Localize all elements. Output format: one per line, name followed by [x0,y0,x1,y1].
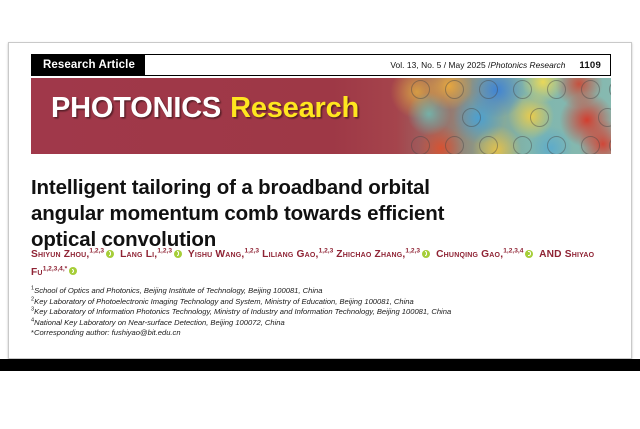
volume-issue-date: Vol. 13, No. 5 / May 2025 / [390,60,490,70]
author-name: Yishu Wang, [188,249,245,260]
affiliation-item: 4National Key Laboratory on Near-surface… [31,318,621,329]
author-entry: Zhichao Zhang,1,2,3 [336,249,420,260]
orcid-icon[interactable] [422,250,430,258]
affiliation-item: 3Key Laboratory of Information Photonics… [31,307,621,318]
running-head-citation: Vol. 13, No. 5 / May 2025 / Photonics Re… [145,55,610,75]
banner-circle [547,136,566,154]
journal-logo: PHOTONICSResearch [51,92,359,125]
author-name: Lang Li, [120,249,157,260]
affiliation-text: Key Laboratory of Photoelectronic Imagin… [34,297,414,306]
author-entry: Liliang Gao,1,2,3 [262,249,333,260]
journal-logo-photonics: PHOTONICS [51,92,221,124]
banner-circle [462,108,481,127]
viewer-bottom-band [0,359,640,371]
banner-circle [411,136,430,154]
affiliation-text: School of Optics and Photonics, Beijing … [34,286,322,295]
banner-circle [530,108,549,127]
author-affiliation-marker: 1,2,3 [244,248,259,255]
author-name: Liliang Gao, [262,249,318,260]
author-name: Chunqing Gao, [436,249,503,260]
banner-circle [479,136,498,154]
banner-circle [411,80,430,99]
banner-circle [479,80,498,99]
author-list: Shiyun Zhou,1,2,3 Lang Li,1,2,3 Yishu Wa… [31,246,616,281]
journal-name: Photonics Research [490,60,565,70]
author-affiliation-marker: 1,2,3,4,* [43,265,68,272]
author-affiliation-marker: 1,2,3 [319,248,334,255]
corresponding-author-text: Corresponding author: fushiyao@bit.edu.c… [34,328,181,337]
author-entry: Yishu Wang,1,2,3 [188,249,259,260]
author-entry: Shiyun Zhou,1,2,3 [31,249,104,260]
author-name: Shiyun Zhou, [31,249,89,260]
author-entry: Chunqing Gao,1,2,3,4 [436,249,523,260]
author-affiliation-marker: 1,2,3 [157,248,172,255]
journal-banner: PHOTONICSResearch [31,78,611,154]
article-page-sheet: Research Article Vol. 13, No. 5 / May 20… [8,42,632,359]
banner-circle [445,80,464,99]
banner-circle [581,136,600,154]
affiliation-item: 2Key Laboratory of Photoelectronic Imagi… [31,297,621,308]
orcid-icon[interactable] [69,267,77,275]
banner-circle [445,136,464,154]
banner-circle [598,108,611,127]
running-head: Research Article Vol. 13, No. 5 / May 20… [31,54,611,76]
author-affiliation-marker: 1,2,3 [405,248,420,255]
article-type-badge: Research Article [32,55,145,75]
orcid-icon[interactable] [106,250,114,258]
banner-circle [513,136,532,154]
author-name: Zhichao Zhang, [336,249,405,260]
author-affiliation-marker: 1,2,3 [89,248,104,255]
banner-circle [609,80,611,99]
orcid-icon[interactable] [174,250,182,258]
affiliation-item: 1School of Optics and Photonics, Beijing… [31,286,621,297]
author-entry: Lang Li,1,2,3 [120,249,172,260]
page-number: 1109 [579,60,601,71]
banner-circle [513,80,532,99]
affiliation-text: Key Laboratory of Information Photonics … [34,307,451,316]
orcid-icon[interactable] [525,250,533,258]
banner-circle [581,80,600,99]
corresponding-author-line: *Corresponding author: fushiyao@bit.edu.… [31,328,621,339]
journal-logo-research: Research [230,92,359,124]
affiliation-list: 1School of Optics and Photonics, Beijing… [31,286,621,339]
author-affiliation-marker: 1,2,3,4 [503,248,523,255]
banner-circle [547,80,566,99]
affiliation-text: National Key Laboratory on Near-surface … [34,318,285,327]
author-conjunction: AND [539,249,565,260]
banner-circle [609,136,611,154]
article-title: Intelligent tailoring of a broadband orb… [31,175,501,253]
